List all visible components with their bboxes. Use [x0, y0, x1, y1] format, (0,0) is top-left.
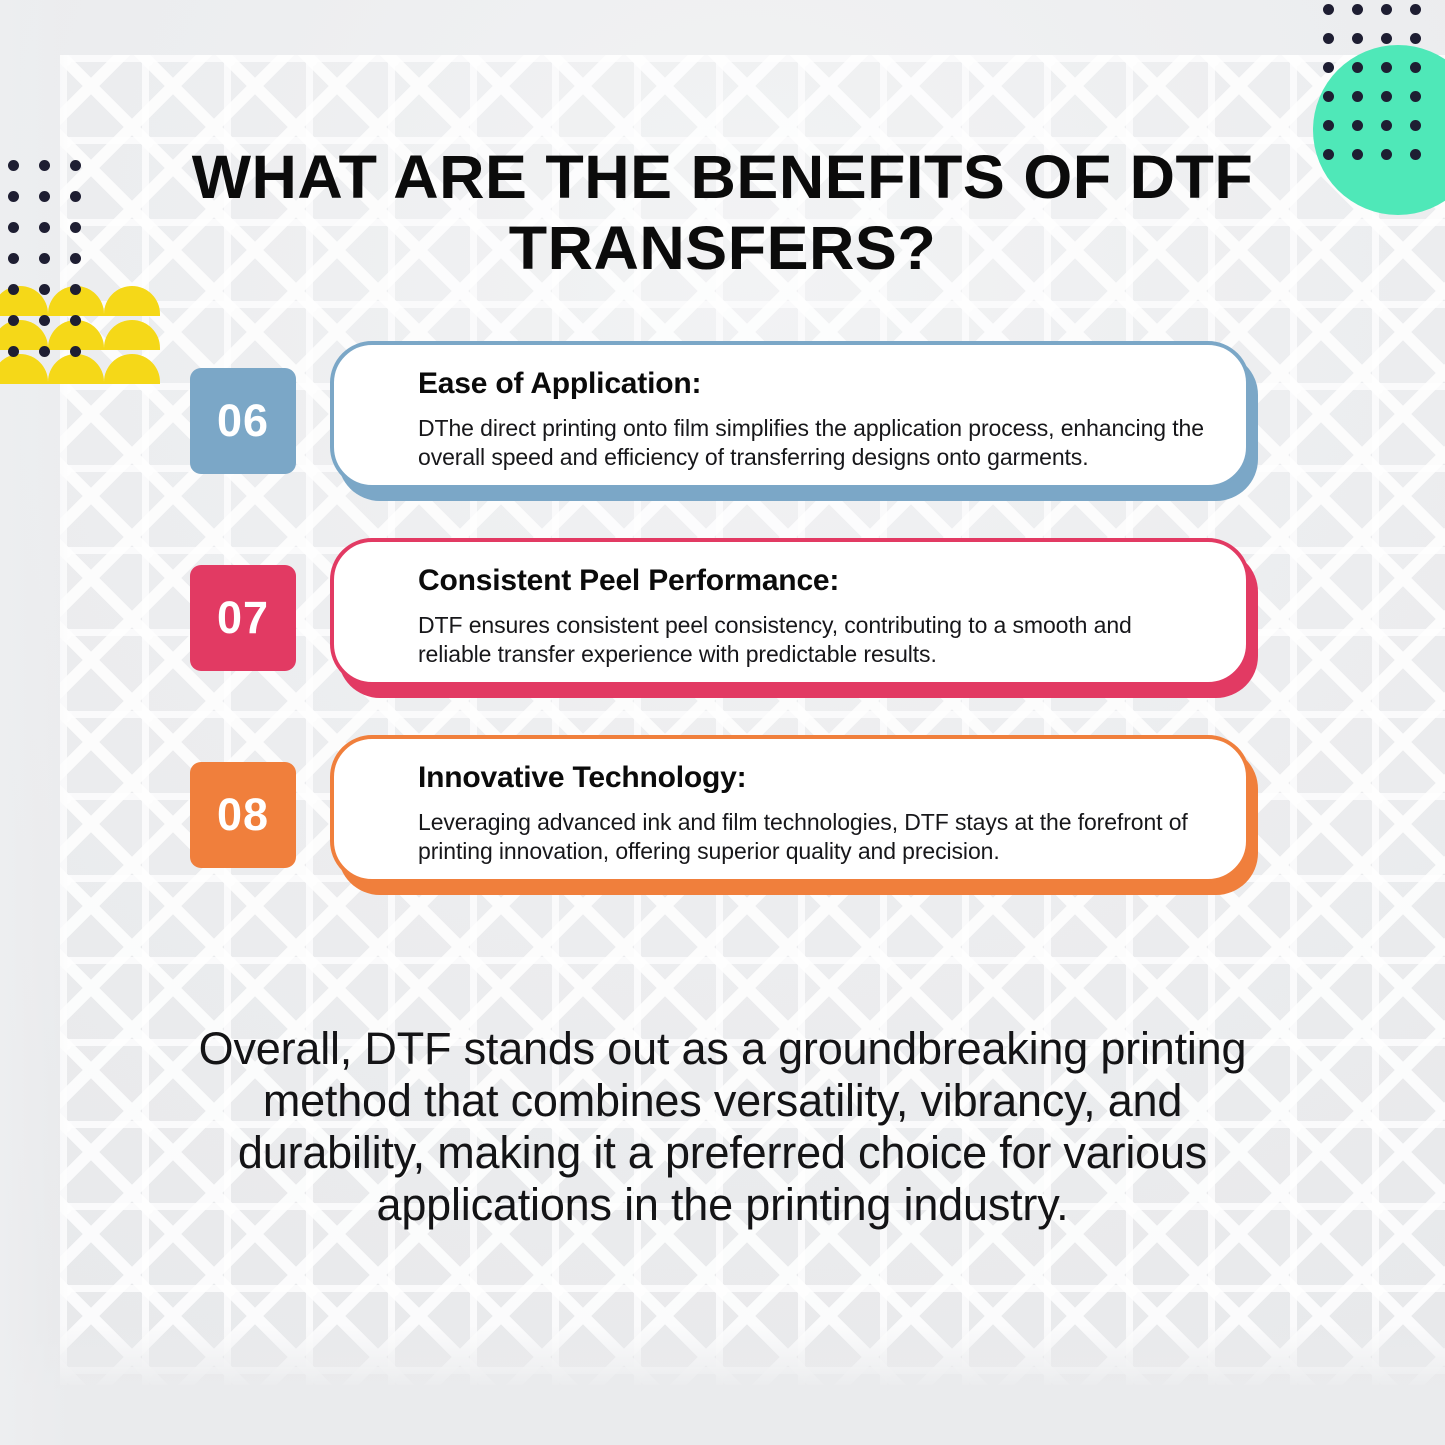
benefit-card-row[interactable]: 07 Consistent Peel Performance: DTF ensu…	[0, 538, 1445, 698]
summary-paragraph: Overall, DTF stands out as a groundbreak…	[175, 1023, 1270, 1231]
benefit-card-list: 06 Ease of Application: DThe direct prin…	[0, 341, 1445, 932]
card-number-badge: 06	[190, 368, 296, 474]
benefit-card-row[interactable]: 06 Ease of Application: DThe direct prin…	[0, 341, 1445, 501]
card-heading: Ease of Application:	[418, 367, 1206, 401]
card-surface[interactable]: Ease of Application: DThe direct printin…	[330, 341, 1250, 489]
card-heading: Innovative Technology:	[418, 761, 1206, 795]
card-heading: Consistent Peel Performance:	[418, 564, 1206, 598]
page-title: WHAT ARE THE BENEFITS OF DTF TRANSFERS?	[184, 142, 1260, 284]
benefit-card[interactable]: Consistent Peel Performance: DTF ensures…	[330, 538, 1258, 698]
card-number-badge: 07	[190, 565, 296, 671]
card-surface[interactable]: Innovative Technology: Leveraging advanc…	[330, 735, 1250, 883]
benefit-card[interactable]: Innovative Technology: Leveraging advanc…	[330, 735, 1258, 895]
card-body-text: DTF ensures consistent peel consistency,…	[418, 611, 1206, 669]
card-surface[interactable]: Consistent Peel Performance: DTF ensures…	[330, 538, 1250, 686]
card-number-badge: 08	[190, 762, 296, 868]
card-body-text: DThe direct printing onto film simplifie…	[418, 414, 1206, 472]
benefit-card[interactable]: Ease of Application: DThe direct printin…	[330, 341, 1258, 501]
card-body-text: Leveraging advanced ink and film technol…	[418, 808, 1206, 866]
benefit-card-row[interactable]: 08 Innovative Technology: Leveraging adv…	[0, 735, 1445, 895]
